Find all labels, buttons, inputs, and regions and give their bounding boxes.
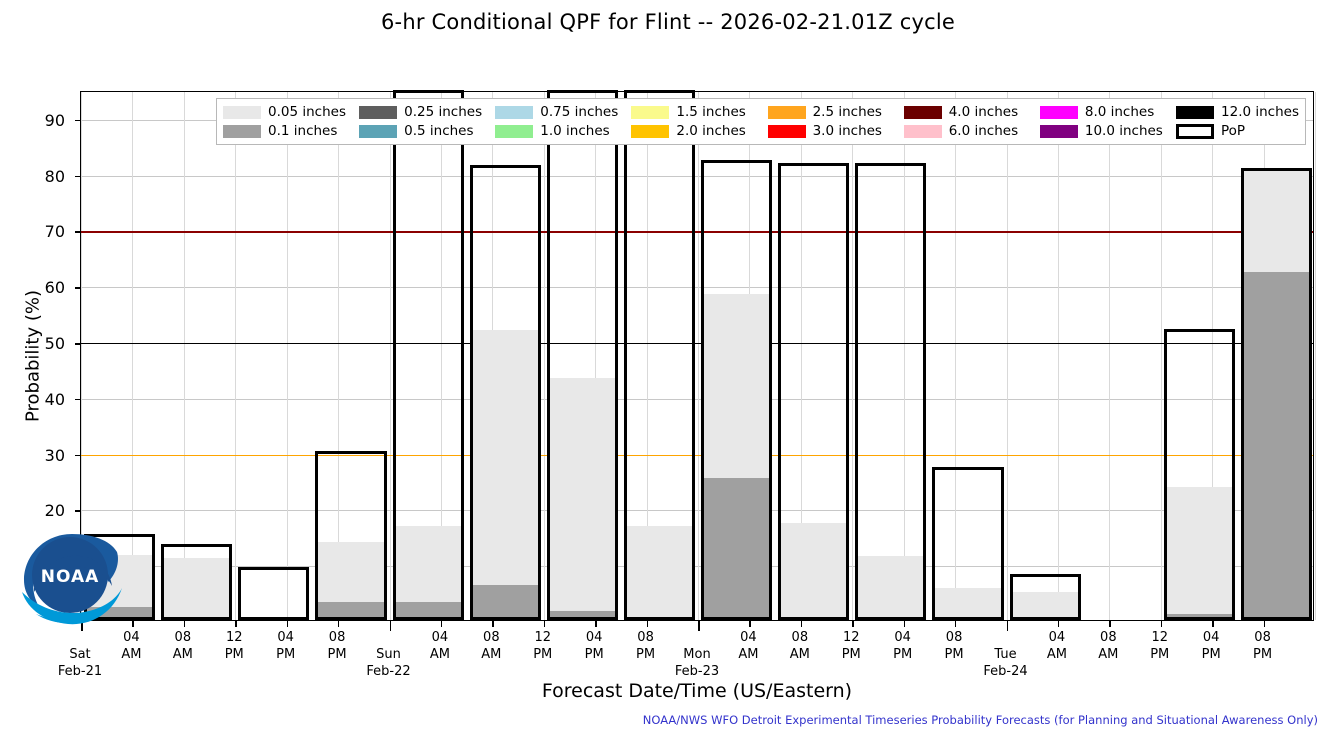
legend-label: 0.1 inches xyxy=(268,123,337,139)
pop-outline-box xyxy=(315,451,386,620)
svg-text:NOAA: NOAA xyxy=(41,567,100,587)
x-tick-mark-3 xyxy=(235,620,236,627)
gridline-x-19 xyxy=(1058,92,1059,620)
legend-item: 2.5 inches xyxy=(768,104,902,120)
legend-label: 2.0 inches xyxy=(676,123,745,139)
gridline-y-40 xyxy=(81,399,1313,400)
x-tick-label-15: 12PM xyxy=(842,629,861,663)
y-tick-label-80: 80 xyxy=(25,167,65,186)
y-tick-mark-90 xyxy=(75,120,81,122)
gridline-y-20 xyxy=(81,510,1313,511)
y-tick-label-50: 50 xyxy=(25,334,65,353)
legend-swatch-icon xyxy=(223,106,261,119)
y-tick-label-40: 40 xyxy=(25,390,65,409)
x-tick-mark-22 xyxy=(1212,620,1213,627)
legend-swatch-icon xyxy=(359,106,397,119)
x-tick-label-6: SunFeb-22 xyxy=(366,629,410,680)
x-tick-label-22: 04PM xyxy=(1202,629,1221,663)
gridline-x-21 xyxy=(1161,92,1162,620)
y-tick-mark-70 xyxy=(75,231,81,233)
footer-note: NOAA/NWS WFO Detroit Experimental Timese… xyxy=(643,713,1318,727)
page-title: 6-hr Conditional QPF for Flint -- 2026-0… xyxy=(0,10,1336,34)
legend-item: 0.1 inches xyxy=(223,123,357,139)
x-tick-mark-7 xyxy=(441,620,442,627)
y-tick-mark-40 xyxy=(75,399,81,401)
pop-outline-box xyxy=(1241,168,1312,620)
y-tick-label-30: 30 xyxy=(25,446,65,465)
y-tick-mark-50 xyxy=(75,343,81,345)
pop-outline-box xyxy=(932,467,1003,620)
y-tick-mark-60 xyxy=(75,287,81,289)
legend-item: 1.0 inches xyxy=(495,123,629,139)
x-tick-mark-14 xyxy=(801,620,802,627)
y-tick-label-90: 90 xyxy=(25,111,65,130)
x-tick-mark-20 xyxy=(1109,620,1110,627)
gridline-x-4 xyxy=(287,92,288,620)
x-tick-mark-13 xyxy=(749,620,750,627)
y-tick-mark-20 xyxy=(75,510,81,512)
legend-item: 10.0 inches xyxy=(1040,123,1174,139)
threshold-line-50 xyxy=(81,343,1313,344)
x-tick-label-5: 08PM xyxy=(328,629,347,663)
gridline-x-12 xyxy=(698,92,699,620)
x-tick-label-20: 08AM xyxy=(1098,629,1118,663)
x-tick-label-11: 08PM xyxy=(636,629,655,663)
gridline-y-80 xyxy=(81,176,1313,177)
threshold-line-70 xyxy=(81,231,1313,232)
legend-item: 1.5 inches xyxy=(631,104,765,120)
legend-swatch-icon xyxy=(495,106,533,119)
legend-label: 1.0 inches xyxy=(540,123,609,139)
x-tick-label-16: 04PM xyxy=(893,629,912,663)
legend: 0.05 inches0.1 inches0.25 inches0.5 inch… xyxy=(216,98,1306,145)
x-tick-label-8: 08AM xyxy=(481,629,501,663)
y-tick-label-70: 70 xyxy=(25,222,65,241)
x-tick-mark-10 xyxy=(595,620,596,627)
x-tick-mark-19 xyxy=(1058,620,1059,627)
legend-label: 0.25 inches xyxy=(404,104,482,120)
gridline-x-15 xyxy=(852,92,853,620)
legend-item: 2.0 inches xyxy=(631,123,765,139)
legend-item: 3.0 inches xyxy=(768,123,902,139)
legend-item: 0.75 inches xyxy=(495,104,629,120)
legend-item: 0.5 inches xyxy=(359,123,493,139)
pop-outline-box xyxy=(778,163,849,620)
qpf-chart: 6-hr Conditional QPF for Flint -- 2026-0… xyxy=(0,0,1336,743)
plot-area: Probability (%) 102030405060708090 xyxy=(80,91,1314,621)
gridline-x-18 xyxy=(1007,92,1008,620)
legend-label: 12.0 inches xyxy=(1221,104,1299,120)
x-tick-label-3: 12PM xyxy=(225,629,244,663)
x-tick-label-19: 04AM xyxy=(1047,629,1067,663)
legend-label: 0.5 inches xyxy=(404,123,473,139)
legend-item: 0.05 inches xyxy=(223,104,357,120)
y-tick-label-20: 20 xyxy=(25,501,65,520)
gridline-x-9 xyxy=(544,92,545,620)
legend-swatch-icon xyxy=(223,125,261,138)
x-tick-label-23: 08PM xyxy=(1253,629,1272,663)
y-tick-mark-30 xyxy=(75,455,81,457)
pop-outline-box xyxy=(1010,574,1081,620)
x-tick-mark-4 xyxy=(287,620,288,627)
legend-label: 1.5 inches xyxy=(676,104,745,120)
x-tick-label-4: 04PM xyxy=(276,629,295,663)
legend-label: 3.0 inches xyxy=(813,123,882,139)
x-tick-label-18: TueFeb-24 xyxy=(983,629,1027,680)
pop-outline-box xyxy=(701,160,772,620)
legend-label: PoP xyxy=(1221,123,1245,139)
pop-outline-box xyxy=(855,163,926,620)
x-tick-mark-17 xyxy=(955,620,956,627)
legend-swatch-icon xyxy=(1176,106,1214,119)
legend-swatch-icon xyxy=(904,106,942,119)
x-tick-label-12: MonFeb-23 xyxy=(675,629,719,680)
gridline-y-60 xyxy=(81,287,1313,288)
x-tick-mark-1 xyxy=(132,620,133,627)
x-tick-label-10: 04PM xyxy=(585,629,604,663)
legend-label: 0.05 inches xyxy=(268,104,346,120)
legend-label: 10.0 inches xyxy=(1085,123,1163,139)
y-tick-mark-80 xyxy=(75,176,81,178)
x-tick-label-17: 08PM xyxy=(945,629,964,663)
x-tick-label-2: 08AM xyxy=(173,629,193,663)
x-tick-mark-2 xyxy=(184,620,185,627)
pop-outline-box xyxy=(624,90,695,620)
legend-swatch-icon xyxy=(1040,106,1078,119)
legend-label: 2.5 inches xyxy=(813,104,882,120)
legend-swatch-icon xyxy=(768,125,806,138)
x-tick-label-9: 12PM xyxy=(533,629,552,663)
pop-outline-box xyxy=(238,567,309,620)
x-tick-label-0: SatFeb-21 xyxy=(58,629,102,680)
x-tick-mark-5 xyxy=(338,620,339,627)
pop-outline-box xyxy=(470,165,541,620)
x-axis-title: Forecast Date/Time (US/Eastern) xyxy=(80,680,1314,702)
x-tick-mark-23 xyxy=(1264,620,1265,627)
x-tick-mark-15 xyxy=(852,620,853,627)
x-tick-mark-11 xyxy=(647,620,648,627)
gridline-x-20 xyxy=(1109,92,1110,620)
x-tick-label-7: 04AM xyxy=(430,629,450,663)
legend-swatch-icon xyxy=(631,125,669,138)
legend-item: PoP xyxy=(1176,123,1299,139)
gridline-x-3 xyxy=(235,92,236,620)
pop-outline-box xyxy=(1164,329,1235,620)
legend-swatch-icon xyxy=(495,125,533,138)
pop-outline-box xyxy=(161,544,232,620)
noaa-logo-icon: NOAA xyxy=(18,530,126,630)
legend-swatch-icon xyxy=(1176,124,1214,139)
gridline-x-2 xyxy=(184,92,185,620)
legend-label: 8.0 inches xyxy=(1085,104,1154,120)
legend-swatch-icon xyxy=(904,125,942,138)
legend-item: 12.0 inches xyxy=(1176,104,1299,120)
legend-item: 6.0 inches xyxy=(904,123,1038,139)
x-tick-mark-21 xyxy=(1161,620,1162,627)
legend-swatch-icon xyxy=(768,106,806,119)
legend-item: 0.25 inches xyxy=(359,104,493,120)
x-tick-mark-16 xyxy=(904,620,905,627)
legend-item: 8.0 inches xyxy=(1040,104,1174,120)
gridline-x-6 xyxy=(390,92,391,620)
x-tick-mark-9 xyxy=(544,620,545,627)
legend-label: 0.75 inches xyxy=(540,104,618,120)
pop-outline-box xyxy=(393,90,464,620)
gridline-x-24 xyxy=(1315,92,1316,620)
x-tick-label-1: 04AM xyxy=(121,629,141,663)
x-tick-mark-8 xyxy=(492,620,493,627)
legend-swatch-icon xyxy=(631,106,669,119)
x-tick-label-13: 04AM xyxy=(738,629,758,663)
x-tick-label-14: 08AM xyxy=(790,629,810,663)
legend-swatch-icon xyxy=(359,125,397,138)
x-tick-label-21: 12PM xyxy=(1150,629,1169,663)
pop-outline-box xyxy=(547,90,618,620)
legend-label: 4.0 inches xyxy=(949,104,1018,120)
legend-item: 4.0 inches xyxy=(904,104,1038,120)
threshold-line-30 xyxy=(81,455,1313,456)
legend-label: 6.0 inches xyxy=(949,123,1018,139)
legend-swatch-icon xyxy=(1040,125,1078,138)
y-tick-label-60: 60 xyxy=(25,278,65,297)
